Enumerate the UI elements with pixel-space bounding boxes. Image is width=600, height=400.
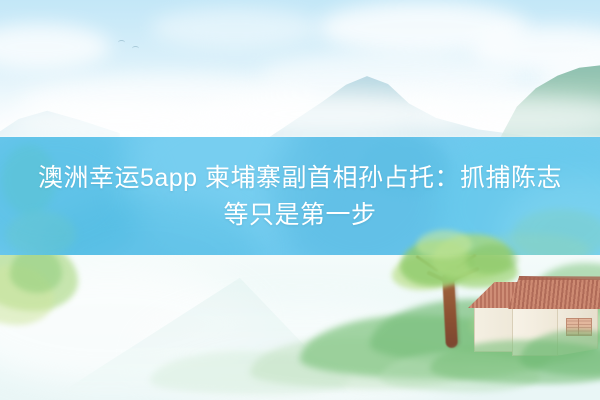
bush-left [0, 265, 54, 325]
mist-layer [200, 92, 460, 136]
title-line-1: 澳洲幸运5app 柬埔寨副首相孙占托：抓捕陈志 [38, 160, 562, 197]
cloud-icon [540, 58, 600, 98]
cloud-icon [20, 74, 320, 130]
hedge [150, 351, 350, 395]
hedge [370, 299, 600, 365]
article-banner-image: 澳洲幸运5app 柬埔寨副首相孙占托：抓捕陈志 等只是第一步 [0, 0, 600, 400]
hedge [250, 337, 470, 389]
banner-title: 澳洲幸运5app 柬埔寨副首相孙占托：抓捕陈志 等只是第一步 [0, 137, 600, 255]
cloud-icon [330, 86, 600, 136]
ground-haze [0, 265, 260, 385]
bush-left [10, 255, 62, 293]
ground-background [0, 255, 600, 400]
mountain-peak [268, 66, 568, 138]
bird-icon [132, 46, 139, 51]
mountain-right [500, 60, 600, 138]
mist-layer [0, 100, 240, 142]
sky-background [0, 0, 600, 137]
cloud-icon [0, 24, 110, 70]
bush-left [0, 255, 78, 311]
hedge [530, 263, 600, 313]
cloud-icon [318, 2, 528, 54]
title-line-2: 等只是第一步 [223, 197, 376, 234]
cloud-icon [470, 26, 600, 74]
hill-slope [60, 273, 350, 393]
mist-layer [420, 96, 600, 136]
mountain-left [0, 104, 120, 138]
bird-icon [118, 40, 125, 45]
cloud-icon [150, 8, 320, 48]
hedge [470, 289, 600, 345]
cloud-icon [260, 52, 520, 98]
ground-haze [140, 300, 470, 400]
hedge [300, 315, 550, 379]
title-band: 澳洲幸运5app 柬埔寨副首相孙占托：抓捕陈志 等只是第一步 [0, 137, 600, 255]
